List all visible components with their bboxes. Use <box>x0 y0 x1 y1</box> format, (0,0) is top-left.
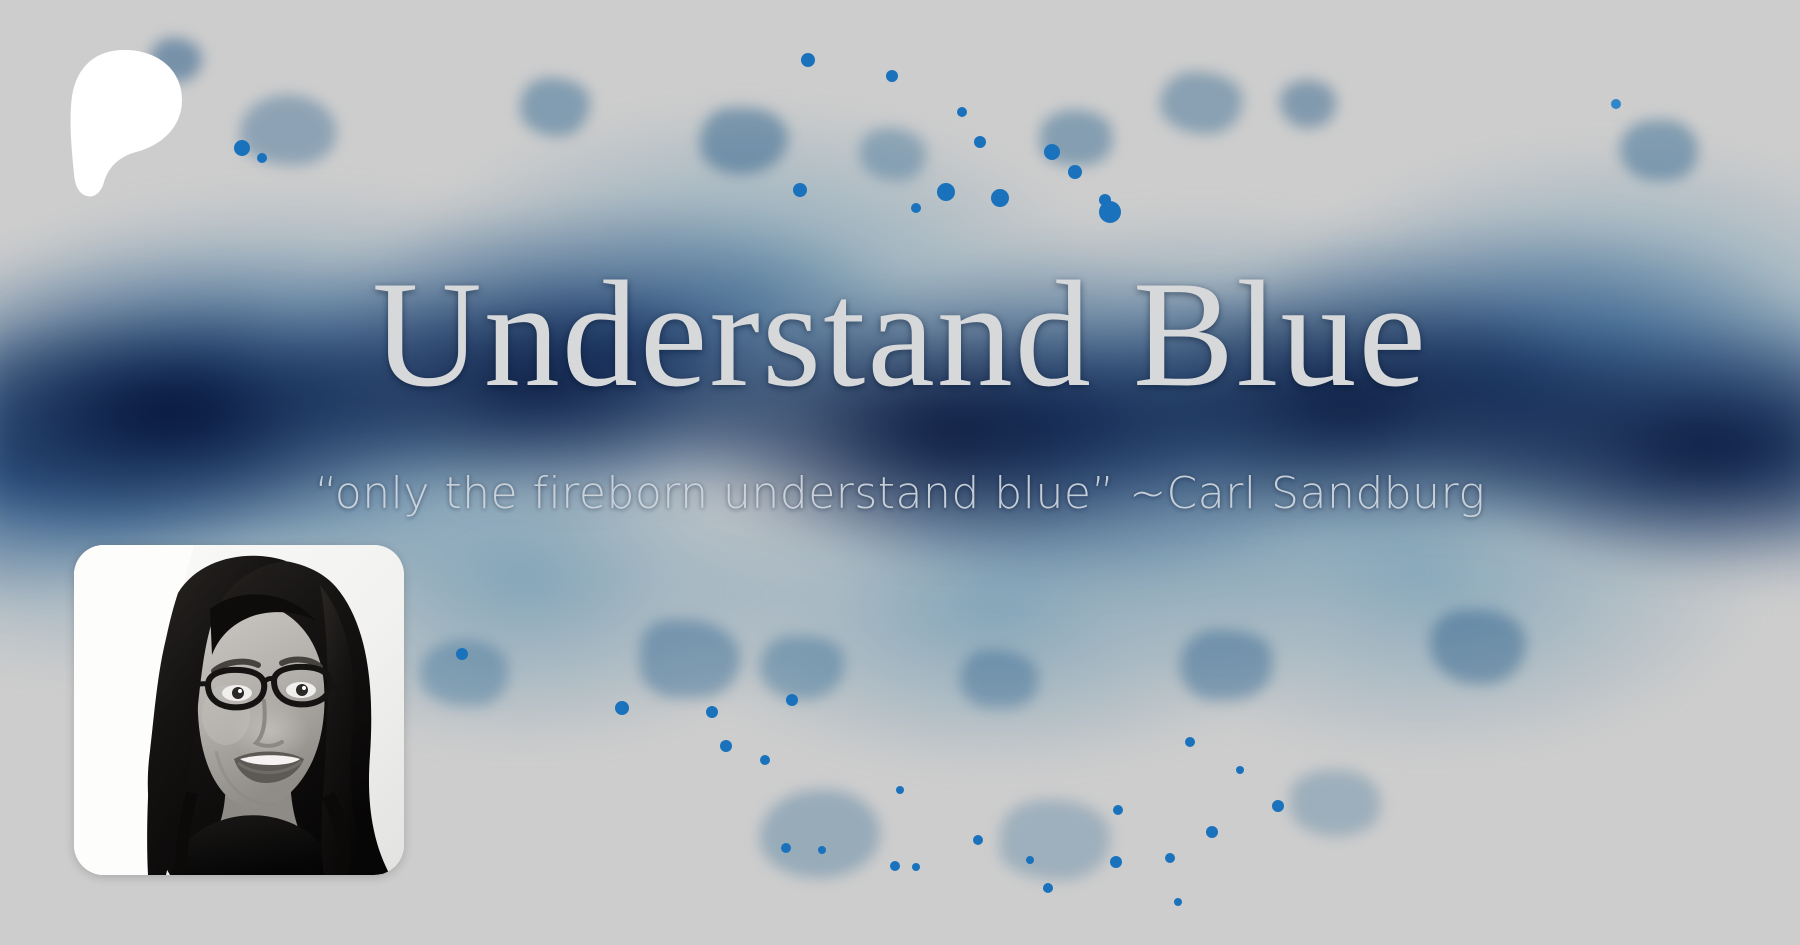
paint-splatter-dot <box>1110 856 1122 868</box>
page-title: Understand Blue <box>0 255 1800 415</box>
paint-splatter-dot <box>890 861 900 871</box>
patreon-logo[interactable] <box>66 48 184 198</box>
paint-splatter-dot <box>1099 194 1111 206</box>
watercolor-blob <box>1040 110 1112 166</box>
paint-splatter-dot <box>974 136 986 148</box>
watercolor-blob <box>860 128 926 180</box>
paint-splatter-dot <box>912 863 920 871</box>
avatar[interactable] <box>74 545 404 875</box>
paint-splatter-dot <box>781 843 791 853</box>
watercolor-blob <box>1280 80 1336 128</box>
watercolor-blob <box>1000 800 1110 880</box>
paint-splatter-dot <box>937 183 955 201</box>
paint-splatter-dot <box>615 701 629 715</box>
page-subtitle-quote: “only the fireborn understand blue” ~Car… <box>0 468 1800 519</box>
watercolor-blob <box>960 650 1038 708</box>
patreon-logo-icon <box>66 48 184 198</box>
paint-splatter-dot <box>1043 883 1053 893</box>
paint-splatter-dot <box>1272 800 1284 812</box>
paint-splatter-dot <box>1165 853 1175 863</box>
paint-splatter-dot <box>1099 201 1121 223</box>
paint-splatter-dot <box>957 107 967 117</box>
paint-splatter-dot <box>1611 99 1621 109</box>
paint-splatter-dot <box>991 189 1009 207</box>
watercolor-blob <box>760 790 880 878</box>
paint-splatter-dot <box>1068 165 1082 179</box>
author-portrait-image <box>74 545 404 875</box>
paint-splatter-dot <box>257 153 267 163</box>
paint-splatter-dot <box>234 140 250 156</box>
paint-splatter-dot <box>896 786 904 794</box>
watercolor-blob <box>1290 770 1380 836</box>
paint-splatter-dot <box>1044 144 1060 160</box>
paint-splatter-dot <box>886 70 898 82</box>
watercolor-blob <box>640 620 740 698</box>
paint-splatter-dot <box>911 203 921 213</box>
paint-splatter-dot <box>760 755 770 765</box>
watercolor-blob <box>240 95 336 165</box>
watercolor-blob <box>1620 120 1698 180</box>
paint-splatter-dot <box>793 183 807 197</box>
watercolor-blob <box>1160 72 1242 134</box>
blog-header-banner: Understand Blue “only the fireborn under… <box>0 0 1800 945</box>
watercolor-blob <box>520 78 590 136</box>
paint-splatter-dot <box>1113 805 1123 815</box>
watercolor-blob <box>700 108 788 174</box>
paint-splatter-dot <box>1206 826 1218 838</box>
paint-splatter-dot <box>801 53 815 67</box>
paint-splatter-dot <box>818 846 826 854</box>
paint-splatter-dot <box>456 648 468 660</box>
watercolor-blob <box>760 636 844 700</box>
paint-splatter-dot <box>706 706 718 718</box>
paint-splatter-dot <box>1174 898 1182 906</box>
paint-splatter-dot <box>1026 856 1034 864</box>
watercolor-blob <box>1180 630 1272 700</box>
paint-splatter-dot <box>720 740 732 752</box>
watercolor-blob <box>420 640 508 706</box>
paint-splatter-dot <box>973 835 983 845</box>
paint-splatter-dot <box>1185 737 1195 747</box>
paint-splatter-dot <box>1236 766 1244 774</box>
paint-splatter-dot <box>786 694 798 706</box>
watercolor-blob <box>1430 610 1526 684</box>
